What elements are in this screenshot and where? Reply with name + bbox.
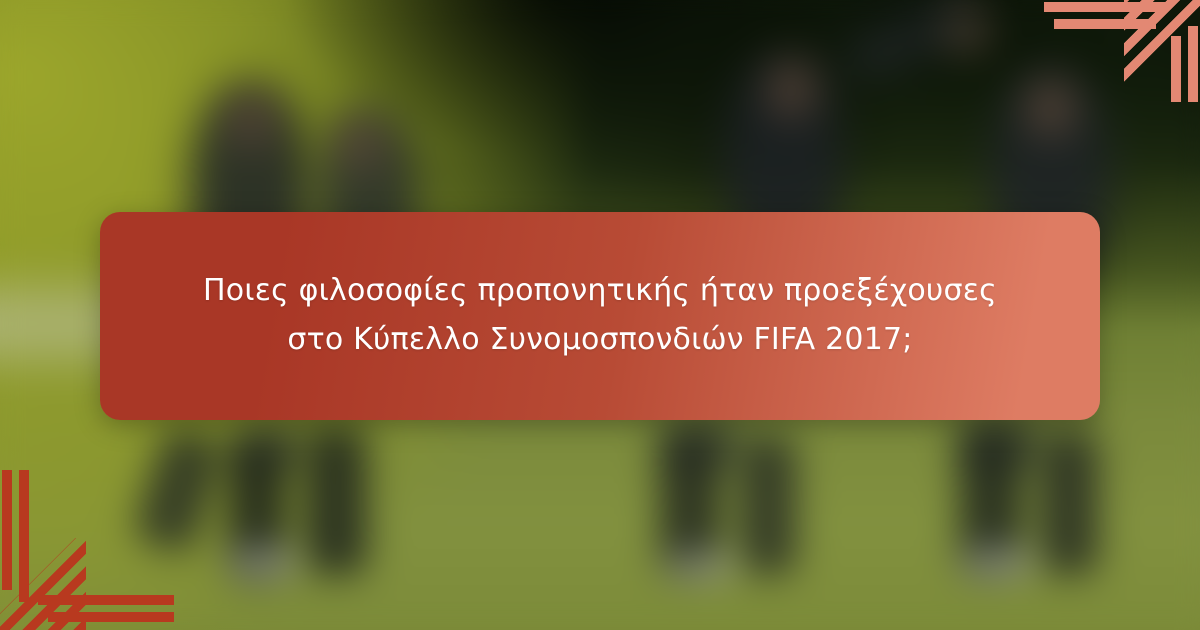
headline-line-2: στο Κύπελλο Συνομοσπονδιών FIFA 2017; [203, 316, 997, 365]
page-title: Ποιες φιλοσοφίες προπονητικής ήταν προεξ… [203, 267, 997, 364]
social-card-canvas: Ποιες φιλοσοφίες προπονητικής ήταν προεξ… [0, 0, 1200, 630]
headline-card: Ποιες φιλοσοφίες προπονητικής ήταν προεξ… [100, 212, 1100, 420]
headline-line-1: Ποιες φιλοσοφίες προπονητικής ήταν προεξ… [203, 273, 997, 308]
